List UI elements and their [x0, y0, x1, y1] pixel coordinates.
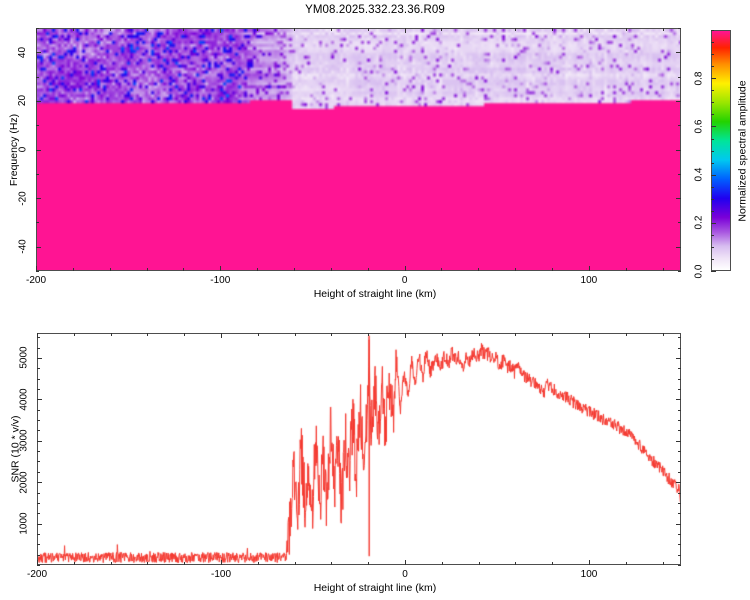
axis-tick-major: [676, 198, 681, 199]
axis-tick-major: [220, 266, 221, 271]
axis-tick-major: [220, 28, 221, 33]
axis-tick-minor: [294, 268, 295, 271]
axis-tick-minor: [678, 461, 681, 462]
axis-tick-minor: [479, 333, 480, 336]
axis-tick-major: [36, 247, 41, 248]
axis-tick-minor: [258, 562, 259, 565]
axis-tick-minor: [74, 562, 75, 565]
x-tick-label: -100: [210, 275, 230, 286]
axis-tick-minor: [258, 333, 259, 336]
axis-tick-minor: [147, 268, 148, 271]
axis-tick-minor: [37, 461, 40, 462]
snr-trace: [38, 334, 681, 565]
axis-tick-minor: [678, 348, 681, 349]
axis-tick-minor: [552, 268, 553, 271]
axis-tick-major: [37, 441, 42, 442]
axis-tick-minor: [678, 368, 681, 369]
axis-tick-minor: [626, 28, 627, 31]
axis-tick-minor: [678, 513, 681, 514]
axis-tick-minor: [368, 28, 369, 31]
axis-tick-minor: [147, 28, 148, 31]
colorbar-tick-minor: [711, 114, 714, 115]
axis-tick-major: [589, 28, 590, 33]
axis-tick-major: [37, 333, 38, 338]
colorbar-tick-minor: [711, 42, 714, 43]
axis-tick-minor: [678, 451, 681, 452]
colorbar-tick-minor: [711, 235, 714, 236]
y-tick-label: -40: [17, 239, 28, 253]
axis-tick-minor: [368, 333, 369, 336]
spectrogram-x-axis-title: Height of straight line (km): [0, 288, 750, 300]
axis-tick-minor: [147, 333, 148, 336]
axis-tick-minor: [678, 77, 681, 78]
axis-tick-minor: [110, 28, 111, 31]
figure-canvas: YM08.2025.332.23.36.R09 -200-1000100-40-…: [0, 0, 750, 600]
axis-tick-minor: [74, 333, 75, 336]
axis-tick-minor: [36, 77, 39, 78]
axis-tick-minor: [37, 503, 40, 504]
spectrogram-image: [37, 29, 681, 271]
axis-tick-minor: [678, 379, 681, 380]
x-tick-label: 0: [402, 569, 408, 580]
axis-tick-minor: [552, 333, 553, 336]
axis-tick-minor: [184, 562, 185, 565]
axis-tick-minor: [678, 493, 681, 494]
axis-tick-minor: [37, 451, 40, 452]
x-tick-label: 100: [581, 569, 598, 580]
axis-tick-major: [405, 266, 406, 271]
axis-tick-major: [676, 524, 681, 525]
axis-tick-minor: [37, 472, 40, 473]
axis-tick-minor: [441, 268, 442, 271]
axis-tick-major: [37, 399, 42, 400]
colorbar-tick-label: 0.4: [693, 168, 704, 182]
axis-tick-minor: [37, 379, 40, 380]
colorbar-tick-minor: [711, 30, 714, 31]
axis-tick-minor: [678, 174, 681, 175]
axis-tick-minor: [111, 562, 112, 565]
axis-tick-minor: [37, 534, 40, 535]
axis-tick-minor: [678, 503, 681, 504]
colorbar[interactable]: [711, 30, 731, 271]
axis-tick-major: [36, 52, 41, 53]
colorbar-tick-minor: [711, 139, 714, 140]
axis-tick-major: [676, 101, 681, 102]
axis-tick-minor: [479, 562, 480, 565]
axis-tick-major: [36, 28, 37, 33]
axis-tick-minor: [37, 555, 40, 556]
colorbar-tick-minor: [711, 211, 714, 212]
colorbar-gradient: [712, 31, 730, 270]
axis-tick-major: [589, 333, 590, 338]
axis-tick-minor: [36, 174, 39, 175]
y-tick-label: 5000: [18, 347, 29, 369]
axis-tick-minor: [626, 562, 627, 565]
axis-tick-major: [37, 524, 42, 525]
colorbar-tick-major: [711, 223, 716, 224]
colorbar-tick-label: 0.2: [693, 216, 704, 230]
y-tick-label: -20: [17, 191, 28, 205]
page-title: YM08.2025.332.23.36.R09: [0, 4, 750, 16]
axis-tick-minor: [626, 268, 627, 271]
axis-tick-minor: [331, 28, 332, 31]
axis-tick-major: [676, 399, 681, 400]
axis-tick-major: [36, 150, 41, 151]
axis-tick-minor: [37, 410, 40, 411]
axis-tick-minor: [478, 28, 479, 31]
axis-tick-minor: [37, 544, 40, 545]
axis-tick-minor: [257, 28, 258, 31]
axis-tick-minor: [663, 28, 664, 31]
axis-tick-major: [221, 560, 222, 565]
colorbar-tick-major: [711, 78, 716, 79]
colorbar-tick-major: [711, 126, 716, 127]
axis-tick-major: [676, 150, 681, 151]
axis-tick-minor: [295, 562, 296, 565]
axis-tick-minor: [36, 125, 39, 126]
colorbar-tick-minor: [711, 163, 714, 164]
x-tick-label: 100: [581, 275, 598, 286]
axis-tick-minor: [442, 562, 443, 565]
axis-tick-minor: [37, 348, 40, 349]
colorbar-tick-minor: [711, 54, 714, 55]
axis-tick-minor: [663, 268, 664, 271]
axis-tick-minor: [678, 534, 681, 535]
axis-tick-minor: [73, 28, 74, 31]
axis-tick-major: [589, 266, 590, 271]
axis-tick-minor: [663, 333, 664, 336]
colorbar-tick-minor: [711, 259, 714, 260]
axis-tick-minor: [36, 271, 39, 272]
axis-tick-minor: [552, 28, 553, 31]
axis-tick-minor: [37, 368, 40, 369]
axis-tick-major: [36, 101, 41, 102]
axis-tick-major: [36, 198, 41, 199]
axis-tick-minor: [678, 420, 681, 421]
axis-tick-major: [36, 266, 37, 271]
colorbar-tick-major: [711, 175, 716, 176]
axis-tick-minor: [183, 28, 184, 31]
colorbar-tick-minor: [711, 247, 714, 248]
axis-tick-major: [589, 560, 590, 565]
axis-tick-minor: [515, 28, 516, 31]
axis-tick-minor: [37, 389, 40, 390]
axis-tick-major: [676, 482, 681, 483]
axis-tick-minor: [678, 222, 681, 223]
axis-tick-minor: [515, 268, 516, 271]
axis-tick-minor: [257, 268, 258, 271]
axis-tick-major: [676, 358, 681, 359]
axis-tick-minor: [678, 430, 681, 431]
colorbar-tick-minor: [711, 102, 714, 103]
spectrogram-plot-area[interactable]: [36, 28, 681, 271]
axis-tick-minor: [147, 562, 148, 565]
axis-tick-major: [221, 333, 222, 338]
axis-tick-major: [676, 441, 681, 442]
axis-tick-minor: [183, 268, 184, 271]
axis-tick-minor: [368, 562, 369, 565]
axis-tick-major: [37, 482, 42, 483]
axis-tick-major: [676, 52, 681, 53]
colorbar-tick-minor: [711, 90, 714, 91]
axis-tick-minor: [678, 389, 681, 390]
colorbar-tick-label: 0.8: [693, 71, 704, 85]
axis-tick-minor: [331, 333, 332, 336]
axis-tick-minor: [37, 565, 40, 566]
axis-tick-minor: [294, 28, 295, 31]
axis-tick-minor: [37, 430, 40, 431]
axis-tick-minor: [37, 493, 40, 494]
axis-tick-minor: [678, 125, 681, 126]
x-tick-label: -200: [27, 569, 47, 580]
axis-tick-minor: [37, 420, 40, 421]
axis-tick-minor: [552, 562, 553, 565]
x-tick-label: -100: [211, 569, 231, 580]
axis-tick-minor: [184, 333, 185, 336]
axis-tick-minor: [678, 337, 681, 338]
axis-tick-major: [405, 333, 406, 338]
axis-tick-minor: [478, 268, 479, 271]
axis-tick-minor: [368, 268, 369, 271]
axis-tick-minor: [442, 333, 443, 336]
axis-tick-minor: [111, 333, 112, 336]
axis-tick-minor: [678, 555, 681, 556]
axis-tick-minor: [678, 544, 681, 545]
colorbar-title: Normalized spectral amplitude: [736, 80, 748, 221]
axis-tick-minor: [331, 268, 332, 271]
axis-tick-minor: [295, 333, 296, 336]
axis-tick-minor: [441, 28, 442, 31]
axis-tick-major: [37, 560, 38, 565]
axis-tick-minor: [663, 562, 664, 565]
axis-tick-major: [405, 28, 406, 33]
y-tick-label: 40: [17, 47, 28, 58]
y-tick-label: 4000: [18, 388, 29, 410]
colorbar-tick-label: 0.6: [693, 119, 704, 133]
colorbar-tick-minor: [711, 151, 714, 152]
snr-plot-area[interactable]: [37, 333, 681, 565]
axis-tick-major: [676, 247, 681, 248]
colorbar-tick-minor: [711, 187, 714, 188]
colorbar-tick-minor: [711, 199, 714, 200]
colorbar-tick-label: 0.0: [693, 264, 704, 278]
snr-y-axis-title: SNR (10 * v/v): [9, 415, 21, 482]
axis-tick-minor: [678, 28, 681, 29]
axis-tick-minor: [678, 565, 681, 566]
x-tick-label: 0: [402, 275, 408, 286]
axis-tick-minor: [678, 271, 681, 272]
axis-tick-minor: [678, 472, 681, 473]
snr-x-axis-title: Height of straight line (km): [0, 582, 750, 594]
axis-tick-major: [405, 560, 406, 565]
axis-tick-minor: [36, 222, 39, 223]
axis-tick-minor: [515, 562, 516, 565]
axis-tick-minor: [110, 268, 111, 271]
colorbar-tick-minor: [711, 66, 714, 67]
axis-tick-minor: [37, 513, 40, 514]
spectrogram-y-axis-title: Frequency (Hz): [8, 113, 20, 185]
colorbar-tick-major: [711, 271, 716, 272]
axis-tick-minor: [626, 333, 627, 336]
axis-tick-minor: [331, 562, 332, 565]
x-tick-label: -200: [26, 275, 46, 286]
y-tick-label: 1000: [18, 512, 29, 534]
axis-tick-minor: [515, 333, 516, 336]
axis-tick-major: [37, 358, 42, 359]
axis-tick-minor: [73, 268, 74, 271]
axis-tick-minor: [678, 410, 681, 411]
y-tick-label: 20: [17, 95, 28, 106]
